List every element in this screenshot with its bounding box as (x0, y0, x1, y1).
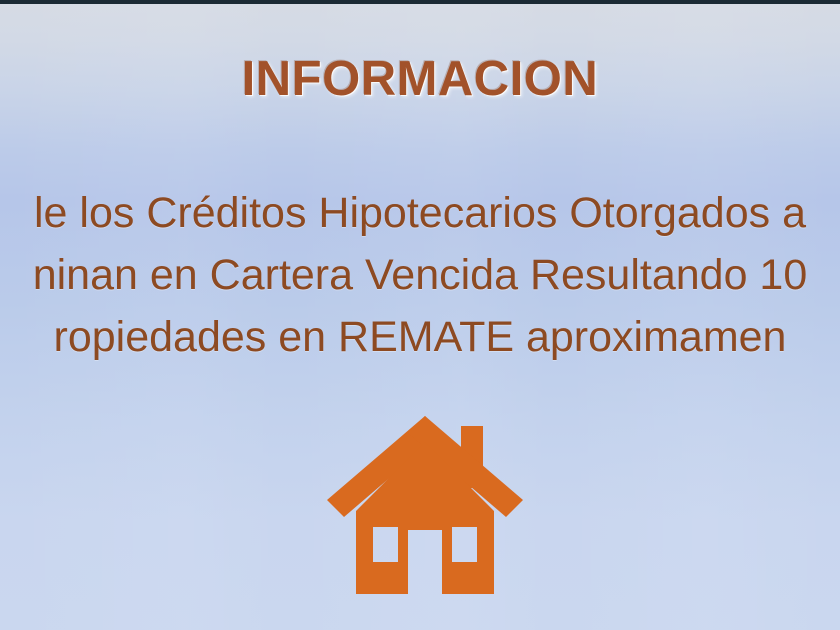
body-text-line-2: ninan en Cartera Vencida Resultando 10 (0, 254, 840, 297)
body-text-block: le los Créditos Hipotecarios Otorgados a… (0, 178, 840, 378)
body-text-line-3: ropiedades en REMATE aproximamen (0, 316, 840, 359)
slide-canvas: INFORMACION le los Créditos Hipotecarios… (0, 0, 840, 630)
top-dark-bar (0, 0, 840, 4)
body-text-line-1: le los Créditos Hipotecarios Otorgados a (0, 192, 840, 235)
house-icon (322, 414, 534, 606)
page-title: INFORMACION (0, 54, 840, 105)
